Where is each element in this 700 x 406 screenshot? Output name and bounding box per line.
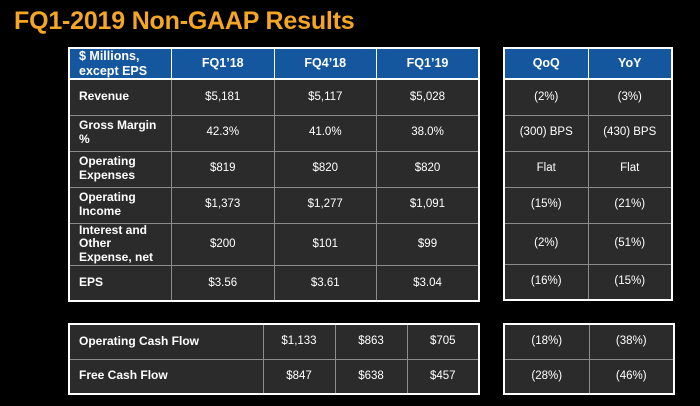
cell-ocf-fq1-18: $1,133 bbox=[263, 324, 335, 359]
table-row: Operating Income $1,373 $1,277 $1,091 bbox=[69, 187, 479, 223]
table-row: Gross Margin % 42.3% 41.0% 38.0% bbox=[69, 115, 479, 151]
row-label-operating-income: Operating Income bbox=[69, 187, 172, 223]
cell-opex-qoq: Flat bbox=[504, 151, 588, 187]
cell-fcf-fq4-18: $638 bbox=[335, 359, 407, 394]
cell-eps-qoq: (16%) bbox=[504, 264, 588, 300]
cell-eps-fq4-18: $3.61 bbox=[274, 265, 377, 301]
cell-ocf-yoy: (38%) bbox=[589, 324, 674, 359]
cell-ocf-fq4-18: $863 bbox=[335, 324, 407, 359]
cell-opex-fq4-18: $820 bbox=[274, 151, 377, 187]
table-header-row: $ Millions, except EPS FQ1’18 FQ4’18 FQ1… bbox=[69, 48, 479, 79]
cell-opinc-fq1-19: $1,091 bbox=[377, 187, 480, 223]
cell-interest-yoy: (51%) bbox=[588, 223, 672, 264]
cell-opex-yoy: Flat bbox=[588, 151, 672, 187]
cell-opex-fq1-18: $819 bbox=[172, 151, 275, 187]
cell-opex-fq1-19: $820 bbox=[377, 151, 480, 187]
column-header-fq1-19: FQ1’19 bbox=[377, 48, 480, 79]
cell-revenue-fq1-19: $5,028 bbox=[377, 79, 480, 115]
table-row: (18%) (38%) bbox=[504, 324, 674, 359]
cell-interest-fq1-18: $200 bbox=[172, 223, 275, 265]
column-header-yoy: YoY bbox=[588, 48, 672, 79]
cell-opinc-fq1-18: $1,373 bbox=[172, 187, 275, 223]
cell-fcf-fq1-18: $847 bbox=[263, 359, 335, 394]
table-row: Revenue $5,181 $5,117 $5,028 bbox=[69, 79, 479, 115]
row-label-gross-margin: Gross Margin % bbox=[69, 115, 172, 151]
row-label-eps: EPS bbox=[69, 265, 172, 301]
row-label-line1: Interest and Other bbox=[79, 223, 147, 251]
table-row: EPS $3.56 $3.61 $3.04 bbox=[69, 265, 479, 301]
column-header-qoq: QoQ bbox=[504, 48, 588, 79]
table-row: Flat Flat bbox=[504, 151, 672, 187]
cell-fcf-yoy: (46%) bbox=[589, 359, 674, 394]
table-row: (2%) (51%) bbox=[504, 223, 672, 264]
table-header-row: QoQ YoY bbox=[504, 48, 672, 79]
table-row: (2%) (3%) bbox=[504, 79, 672, 115]
column-header-fq1-18: FQ1’18 bbox=[172, 48, 275, 79]
column-header-fq4-18: FQ4’18 bbox=[274, 48, 377, 79]
main-results-table: $ Millions, except EPS FQ1’18 FQ4’18 FQ1… bbox=[68, 47, 480, 302]
row-label-operating-cash-flow: Operating Cash Flow bbox=[69, 324, 263, 359]
table-row: (15%) (21%) bbox=[504, 187, 672, 223]
cash-flow-delta-table: (18%) (38%) (28%) (46%) bbox=[503, 323, 675, 395]
table-row: (28%) (46%) bbox=[504, 359, 674, 394]
cell-interest-fq4-18: $101 bbox=[274, 223, 377, 265]
cell-revenue-qoq: (2%) bbox=[504, 79, 588, 115]
cell-gross-margin-fq1-19: 38.0% bbox=[377, 115, 480, 151]
table-row: (300) BPS (430) BPS bbox=[504, 115, 672, 151]
row-label-line2: Expense, net bbox=[79, 250, 153, 264]
cell-gross-margin-fq4-18: 41.0% bbox=[274, 115, 377, 151]
table-row: (16%) (15%) bbox=[504, 264, 672, 300]
cell-gross-margin-qoq: (300) BPS bbox=[504, 115, 588, 151]
table-row: Interest and Other Expense, net $200 $10… bbox=[69, 223, 479, 265]
table-row: Free Cash Flow $847 $638 $457 bbox=[69, 359, 479, 394]
cell-gross-margin-yoy: (430) BPS bbox=[588, 115, 672, 151]
cell-eps-fq1-19: $3.04 bbox=[377, 265, 480, 301]
page-title: FQ1-2019 Non-GAAP Results bbox=[14, 7, 354, 36]
cell-opinc-yoy: (21%) bbox=[588, 187, 672, 223]
delta-comparison-table: QoQ YoY (2%) (3%) (300) BPS (430) BPS Fl… bbox=[503, 47, 673, 301]
cell-gross-margin-fq1-18: 42.3% bbox=[172, 115, 275, 151]
column-header-metric: $ Millions, except EPS bbox=[69, 48, 172, 79]
cell-opinc-fq4-18: $1,277 bbox=[274, 187, 377, 223]
table-row: Operating Expenses $819 $820 $820 bbox=[69, 151, 479, 187]
row-label-free-cash-flow: Free Cash Flow bbox=[69, 359, 263, 394]
cell-ocf-fq1-19: $705 bbox=[407, 324, 479, 359]
cell-revenue-yoy: (3%) bbox=[588, 79, 672, 115]
row-label-interest-other-expense: Interest and Other Expense, net bbox=[69, 223, 172, 265]
cell-interest-fq1-19: $99 bbox=[377, 223, 480, 265]
cell-eps-fq1-18: $3.56 bbox=[172, 265, 275, 301]
row-label-operating-expenses: Operating Expenses bbox=[69, 151, 172, 187]
cash-flow-table: Operating Cash Flow $1,133 $863 $705 Fre… bbox=[68, 323, 480, 395]
cell-interest-qoq: (2%) bbox=[504, 223, 588, 264]
cell-eps-yoy: (15%) bbox=[588, 264, 672, 300]
table-row: Operating Cash Flow $1,133 $863 $705 bbox=[69, 324, 479, 359]
cell-opinc-qoq: (15%) bbox=[504, 187, 588, 223]
cell-fcf-qoq: (28%) bbox=[504, 359, 589, 394]
slide-root: FQ1-2019 Non-GAAP Results $ Millions, ex… bbox=[0, 0, 700, 406]
cell-fcf-fq1-19: $457 bbox=[407, 359, 479, 394]
cell-ocf-qoq: (18%) bbox=[504, 324, 589, 359]
cell-revenue-fq1-18: $5,181 bbox=[172, 79, 275, 115]
row-label-revenue: Revenue bbox=[69, 79, 172, 115]
cell-revenue-fq4-18: $5,117 bbox=[274, 79, 377, 115]
